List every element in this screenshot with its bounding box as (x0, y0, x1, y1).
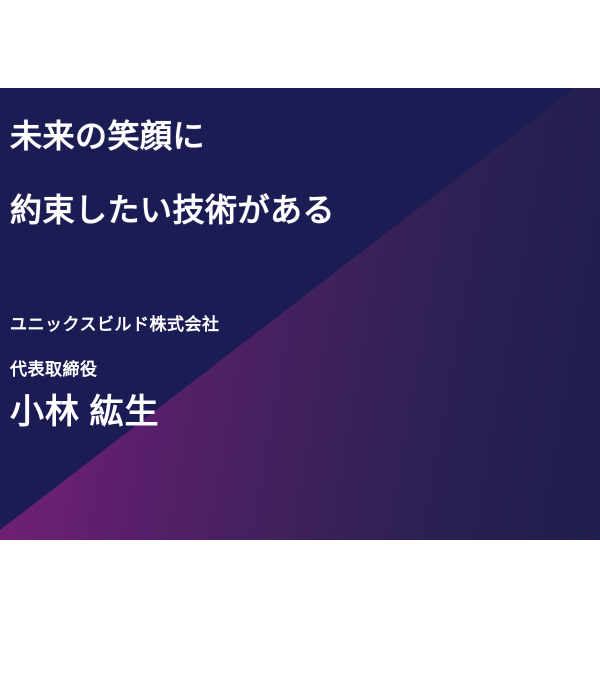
person-role: 代表取締役 (10, 361, 98, 378)
hero-banner: 未来の笑顔に 約束したい技術がある ユニックスビルド株式会社 代表取締役 小林 … (0, 88, 600, 540)
company-name: ユニックスビルド株式会社 (10, 316, 220, 333)
person-name: 小林 紘生 (10, 396, 160, 430)
banner-content: 未来の笑顔に 約束したい技術がある ユニックスビルド株式会社 代表取締役 小林 … (0, 88, 600, 540)
headline-line-2: 約束したい技術がある (10, 194, 335, 226)
headline-line-1: 未来の笑顔に (10, 120, 205, 152)
